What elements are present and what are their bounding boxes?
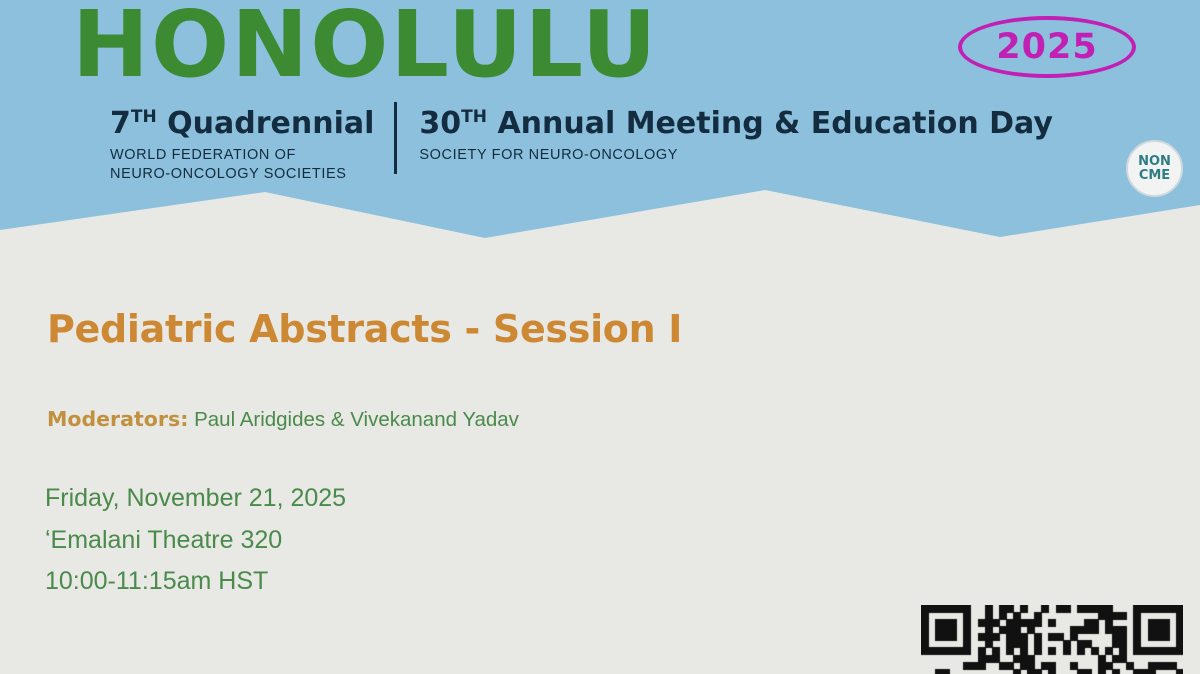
wfnos-event-name: Quadrennial — [167, 106, 374, 141]
non-cme-badge: NON CME — [1126, 140, 1183, 197]
sno-ordinal: 30 — [419, 106, 461, 141]
sno-heading: 30TH Annual Meeting & Education Day — [419, 100, 1053, 141]
non-cme-line1: NON — [1138, 155, 1171, 169]
sno-event-name: Annual Meeting & Education Day — [497, 106, 1052, 141]
banner-subtitles: 7TH Quadrennial WORLD FEDERATION OF NEUR… — [110, 100, 1053, 184]
qr-section[interactable]: w Scan for Translation — [921, 605, 1183, 674]
wfnos-org-line1: WORLD FEDERATION OF — [110, 146, 374, 165]
non-cme-line2: CME — [1139, 169, 1170, 183]
page-title: Pediatric Abstracts - Session I — [47, 307, 682, 351]
sno-block: 30TH Annual Meeting & Education Day SOCI… — [419, 100, 1053, 165]
moderators-names: Paul Aridgides & Vivekanand Yadav — [194, 408, 519, 431]
qr-code[interactable]: w — [921, 605, 1183, 674]
moderators-line: Moderators: Paul Aridgides & Vivekanand … — [47, 407, 519, 432]
honolulu-wordmark: HONOLULU — [72, 0, 659, 94]
qr-code-modules[interactable] — [921, 605, 1183, 674]
wfnos-ordinal: 7 — [110, 106, 131, 141]
sno-org-line1: SOCIETY FOR NEURO-ONCOLOGY — [419, 146, 1053, 165]
wfnos-ordinal-suffix: TH — [131, 107, 157, 127]
session-details: Friday, November 21, 2025 ʻEmalani Theat… — [45, 478, 346, 603]
sno-ordinal-suffix: TH — [461, 107, 487, 127]
wfnos-block: 7TH Quadrennial WORLD FEDERATION OF NEUR… — [110, 100, 374, 184]
session-location: ʻEmalani Theatre 320 — [45, 520, 346, 562]
session-time: 10:00-11:15am HST — [45, 561, 346, 603]
event-banner: HONOLULU 2025 7TH Quadrennial WORLD FEDE… — [0, 0, 1200, 250]
banner-divider — [394, 102, 397, 174]
wfnos-org-line2: NEURO-ONCOLOGY SOCIETIES — [110, 165, 374, 184]
session-date: Friday, November 21, 2025 — [45, 478, 346, 520]
year-badge: 2025 — [958, 16, 1136, 78]
moderators-label: Moderators: — [47, 407, 188, 431]
wfnos-heading: 7TH Quadrennial — [110, 100, 374, 141]
year-label: 2025 — [996, 27, 1097, 67]
